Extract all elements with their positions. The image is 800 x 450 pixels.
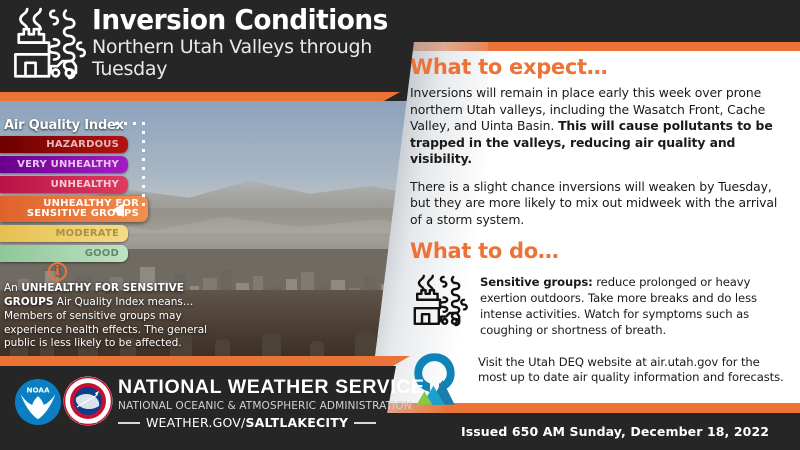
tip-sensitive-groups: Sensitive groups: reduce prolonged or he… — [410, 271, 790, 339]
weather-graphic: Inversion Conditions Northern Utah Valle… — [0, 0, 800, 450]
expect-paragraph-2: There is a slight chance inversions will… — [410, 179, 790, 229]
aqi-label-very-unhealthy: VERY UNHEALTHY — [17, 159, 119, 170]
aqi-bar-very-unhealthy: VERY UNHEALTHY — [0, 156, 128, 173]
aqi-bar-moderate: MODERATE — [0, 225, 128, 242]
issued-bar: Issued 650 AM Sunday, December 18, 2022 — [430, 413, 800, 450]
tip-sensitive-label: Sensitive groups: — [480, 275, 593, 289]
right-panel: What to expect… Inversions will remain i… — [368, 42, 800, 413]
aqi-label-moderate: MODERATE — [56, 228, 120, 239]
aqi-legend-title: Air Quality Index — [0, 118, 235, 133]
left-column: Inversion Conditions Northern Utah Valle… — [0, 0, 430, 450]
dash-right-icon — [354, 422, 376, 424]
what-to-expect-heading: What to expect… — [410, 55, 790, 79]
aqi-label-unhealthy: UNHEALTHY — [51, 179, 119, 190]
svg-text:NATIONAL: NATIONAL — [79, 420, 97, 424]
office-website[interactable]: WEATHER.GOV/SALTLAKECITY — [118, 415, 425, 430]
aqi-label-good: GOOD — [85, 248, 119, 259]
aqi-bar-unhealthy: UNHEALTHY — [0, 176, 128, 193]
tip-utah-deq-text: Visit the Utah DEQ website at air.utah.g… — [478, 351, 790, 387]
dash-left-icon — [118, 422, 140, 424]
info-icon: i — [48, 262, 67, 281]
agency-name: NATIONAL WEATHER SERVICE — [118, 378, 425, 398]
website-office: SALTLAKECITY — [245, 415, 348, 430]
nws-wordmark: NATIONAL WEATHER SERVICE NATIONAL OCEANI… — [118, 378, 425, 430]
page-title: Inversion Conditions — [92, 5, 388, 34]
tip-sensitive-groups-text: Sensitive groups: reduce prolonged or he… — [480, 271, 790, 339]
panel-content: What to expect… Inversions will remain i… — [410, 55, 790, 419]
what-to-do-heading: What to do… — [410, 239, 790, 263]
issued-timestamp: Issued 650 AM Sunday, December 18, 2022 — [461, 424, 769, 439]
aqi-bar-unhealthy-sensitive-groups: UNHEALTHY FOR SENSITIVE GROUPS — [0, 196, 148, 222]
aqi-bar-hazardous: HAZARDOUS — [0, 136, 128, 153]
panel-top-accent — [368, 42, 800, 51]
svg-text:WEATHER: WEATHER — [78, 380, 97, 384]
pointer-arrow-icon — [112, 203, 124, 217]
aqi-label-hazardous: HAZARDOUS — [46, 139, 119, 150]
noaa-logo: NOAA — [14, 378, 62, 426]
nws-logo: WEATHER NATIONAL — [63, 376, 113, 426]
aqi-legend: Air Quality Index HAZARDOUS VERY UNHEALT… — [0, 118, 235, 262]
factory-smoke-icon — [6, 4, 92, 88]
agency-parent: NATIONAL OCEANIC & ATMOSPHERIC ADMINISTR… — [118, 398, 412, 415]
website-prefix: WEATHER.GOV/ — [146, 415, 245, 430]
svg-text:NOAA: NOAA — [26, 385, 49, 394]
page-subtitle: Northern Utah Valleys through Tuesday — [92, 36, 382, 81]
photo-orange-accent — [0, 356, 430, 366]
tip-utah-deq: Visit the Utah DEQ website at air.utah.g… — [410, 351, 790, 407]
aqi-note-prefix: An — [4, 282, 21, 294]
expect-paragraph-1: Inversions will remain in place early th… — [410, 85, 790, 168]
aqi-explanation: An UNHEALTHY FOR SENSITIVE GROUPS Air Qu… — [4, 282, 219, 351]
factory-smoke-icon — [410, 271, 470, 331]
header-orange-accent — [0, 92, 430, 101]
aqi-bar-good: GOOD — [0, 245, 128, 262]
